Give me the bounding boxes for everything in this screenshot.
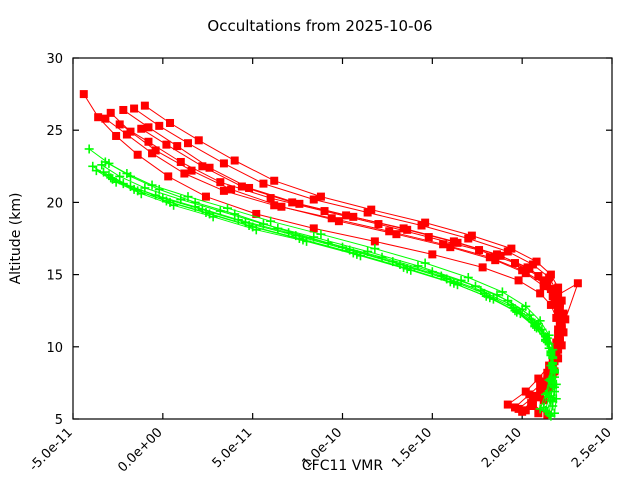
data-point-marker-square — [198, 162, 206, 170]
data-point-marker-square — [112, 132, 120, 140]
data-point-marker-square — [141, 102, 149, 110]
x-axis-tick-label: 2.5e-10 — [569, 425, 615, 471]
x-axis-tick-label: 0.0e+00 — [115, 425, 165, 475]
y-axis-tick-label: 20 — [46, 196, 63, 211]
data-point-marker-square — [335, 217, 343, 225]
data-point-marker-square — [177, 158, 185, 166]
y-axis-tick-label: 25 — [46, 124, 63, 139]
y-axis-title: Altitude (km) — [8, 193, 24, 285]
data-point-marker-square — [522, 388, 530, 396]
data-point-marker-square — [134, 151, 142, 159]
occultations-scatter-line-plot: -5.0e-110.0e+005.0e-111.0e-101.5e-102.0e… — [0, 0, 640, 480]
y-axis-tick-label: 10 — [46, 341, 63, 356]
data-point-marker-square — [317, 193, 325, 201]
data-point-marker-square — [536, 289, 544, 297]
data-point-marker-square — [551, 289, 559, 297]
data-point-marker-square — [270, 177, 278, 185]
data-point-marker-square — [116, 120, 124, 128]
data-point-marker-square — [80, 90, 88, 98]
x-axis-tick-label: -5.0e-11 — [27, 425, 76, 474]
series-line — [141, 129, 561, 409]
data-point-marker-square — [166, 119, 174, 127]
data-point-marker-square — [238, 183, 246, 191]
y-axis-tick-label: 5 — [55, 413, 63, 428]
x-axis-tick-label: 2.0e-10 — [479, 425, 525, 471]
y-axis-tick-label: 15 — [46, 269, 63, 284]
data-point-marker-square — [400, 224, 408, 232]
data-point-marker-square — [206, 164, 214, 172]
data-point-marker-square — [288, 198, 296, 206]
data-point-marker-square — [220, 159, 228, 167]
data-point-marker-square — [148, 149, 156, 157]
x-axis-title: CFC11 VMR — [302, 458, 384, 474]
data-point-marker-square — [450, 237, 458, 245]
data-point-marker-square — [542, 276, 550, 284]
data-point-marker-square — [155, 122, 163, 130]
x-axis-tick-label: 5.0e-11 — [210, 425, 256, 471]
data-point-marker-square — [119, 106, 127, 114]
data-point-marker-square — [328, 214, 336, 222]
data-point-marker-square — [144, 123, 152, 131]
data-point-marker-square — [195, 136, 203, 144]
data-point-marker-square — [310, 196, 318, 204]
data-point-marker-square — [231, 157, 239, 165]
data-point-marker-square — [421, 219, 429, 227]
data-point-marker-square — [468, 232, 476, 240]
data-point-marker-square — [220, 187, 228, 195]
chart-root: Occultations from 2025-10-06 -5.0e-110.0… — [0, 0, 640, 480]
series-line — [105, 119, 560, 412]
data-point-marker-square — [479, 263, 487, 271]
data-point-marker-square — [493, 250, 501, 258]
data-point-marker-square — [531, 392, 539, 400]
series-line — [120, 124, 562, 406]
data-point-marker-square — [574, 279, 582, 287]
data-point-marker-square — [515, 276, 523, 284]
data-point-marker-square — [558, 314, 566, 322]
data-point-marker-square — [130, 105, 138, 113]
data-point-marker-square — [123, 131, 131, 139]
data-series-green-profile-7 — [99, 168, 559, 411]
data-point-marker-square — [554, 340, 562, 348]
data-point-marker-square — [94, 113, 102, 121]
data-point-marker-square — [374, 220, 382, 228]
data-point-marker-square — [202, 193, 210, 201]
data-point-marker-square — [515, 405, 523, 413]
data-point-marker-square — [144, 138, 152, 146]
data-point-marker-square — [101, 115, 109, 123]
data-point-marker-square — [428, 250, 436, 258]
data-series-layer — [80, 90, 582, 421]
data-point-marker-square — [533, 258, 541, 266]
data-point-marker-square — [184, 139, 192, 147]
data-point-marker-square — [556, 327, 564, 335]
data-point-marker-square — [270, 201, 278, 209]
data-point-marker-square — [162, 141, 170, 149]
data-series-red-profile-5 — [101, 115, 564, 416]
data-series-red-profile-2 — [107, 109, 564, 417]
data-series-red-profile-7 — [116, 120, 566, 410]
data-point-marker-square — [137, 125, 145, 133]
data-point-marker-square — [385, 227, 393, 235]
data-point-marker-square — [507, 245, 515, 253]
data-point-marker-square — [367, 206, 375, 214]
series-line — [104, 172, 555, 406]
x-axis-tick-label: 1.5e-10 — [389, 425, 435, 471]
data-point-marker-square — [259, 180, 267, 188]
data-point-marker-square — [180, 170, 188, 178]
data-point-marker-square — [504, 401, 512, 409]
data-point-marker-square — [216, 178, 224, 186]
data-point-marker-square — [342, 211, 350, 219]
data-series-red-profile-8 — [137, 125, 565, 413]
data-point-marker-square — [524, 263, 532, 271]
y-axis-tick-label: 30 — [46, 52, 63, 67]
data-point-marker-square — [556, 302, 564, 310]
data-point-marker-square — [164, 172, 172, 180]
data-point-marker-square — [534, 375, 542, 383]
